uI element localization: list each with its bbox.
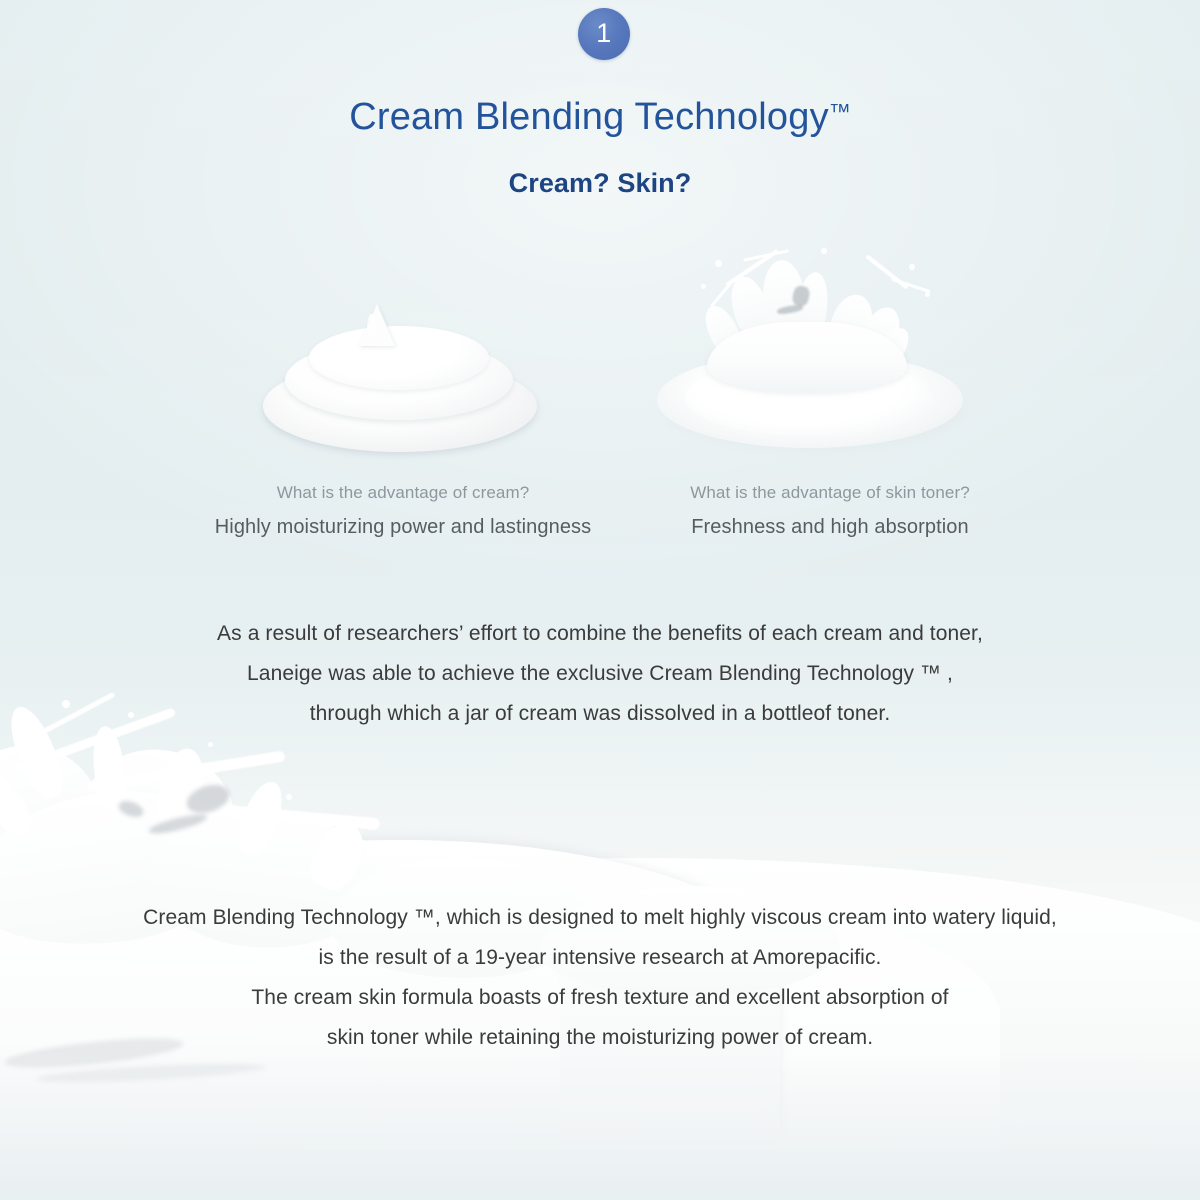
splash-droplet bbox=[701, 284, 706, 289]
milk-ribbon bbox=[86, 750, 285, 792]
paragraph-bottom: Cream Blending Technology ™, which is de… bbox=[0, 898, 1200, 1058]
milk-sparkle bbox=[286, 794, 292, 800]
milk-splash-image bbox=[645, 248, 975, 463]
caption-toner: What is the advantage of skin toner? Fre… bbox=[620, 480, 1040, 543]
milk-blob bbox=[75, 738, 244, 882]
cream-dollop-image bbox=[255, 298, 545, 458]
bottom-fade bbox=[0, 1050, 1200, 1200]
milk-sparkle bbox=[208, 742, 213, 747]
promo-page: 1 Cream Blending Technology™ Cream? Skin… bbox=[0, 0, 1200, 1200]
cream-gloss-highlight bbox=[325, 346, 445, 376]
paragraph-middle: As a result of researchers’ effort to co… bbox=[0, 614, 1200, 734]
paragraph-bottom-line-2: is the result of a 19-year intensive res… bbox=[0, 938, 1200, 978]
splash-droplet bbox=[821, 248, 827, 254]
milk-shade bbox=[183, 780, 233, 818]
milk-splash-tip bbox=[303, 816, 372, 896]
step-number-badge: 1 bbox=[578, 8, 630, 60]
paragraph-middle-line-2: Laneige was able to achieve the exclusiv… bbox=[0, 654, 1200, 694]
milk-ribbon bbox=[190, 802, 380, 831]
milk-shade bbox=[116, 798, 145, 820]
cream-peak bbox=[359, 304, 395, 346]
milk-blob bbox=[0, 729, 113, 896]
caption-toner-question: What is the advantage of skin toner? bbox=[620, 480, 1040, 506]
milk-shade bbox=[147, 811, 208, 837]
page-title: Cream Blending Technology™ bbox=[0, 96, 1200, 139]
paragraph-middle-line-1: As a result of researchers’ effort to co… bbox=[0, 614, 1200, 654]
splash-crown bbox=[707, 322, 907, 392]
paragraph-bottom-line-3: The cream skin formula boasts of fresh t… bbox=[0, 978, 1200, 1018]
page-title-text: Cream Blending Technology bbox=[349, 96, 829, 138]
paragraph-bottom-line-4: skin toner while retaining the moisturiz… bbox=[0, 1018, 1200, 1058]
caption-cream-question: What is the advantage of cream? bbox=[168, 480, 638, 506]
milk-splash-tip bbox=[90, 725, 129, 812]
caption-cream-answer: Highly moisturizing power and lastingnes… bbox=[168, 511, 638, 543]
milk-splash-tip bbox=[0, 758, 38, 842]
milk-sparkle bbox=[360, 840, 365, 845]
milk-splash-tip bbox=[152, 745, 210, 834]
splash-droplet bbox=[715, 260, 722, 267]
splash-droplet bbox=[925, 292, 930, 297]
step-number-label: 1 bbox=[596, 20, 612, 49]
paragraph-bottom-line-1: Cream Blending Technology ™, which is de… bbox=[0, 898, 1200, 938]
cream-peak-highlight bbox=[367, 314, 376, 344]
caption-cream: What is the advantage of cream? Highly m… bbox=[168, 480, 638, 543]
splash-droplet bbox=[909, 264, 915, 270]
visual-row bbox=[0, 240, 1200, 470]
splash-tendril bbox=[892, 278, 931, 293]
page-subtitle: Cream? Skin? bbox=[0, 168, 1200, 199]
paragraph-middle-line-3: through which a jar of cream was dissolv… bbox=[0, 694, 1200, 734]
milk-shade bbox=[36, 1060, 266, 1086]
caption-toner-answer: Freshness and high absorption bbox=[620, 511, 1040, 543]
trademark-symbol: ™ bbox=[829, 99, 851, 124]
milk-splash-tip bbox=[232, 776, 290, 859]
